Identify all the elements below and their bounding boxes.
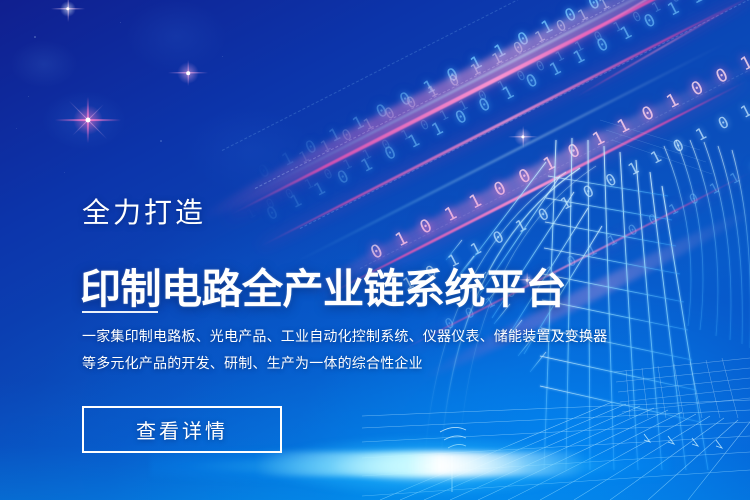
view-details-button[interactable]: 查看详情 <box>82 406 282 453</box>
hero-content: 全力打造 印制电路全产业链系统平台 一家集印制电路板、光电产品、工业自动化控制系… <box>0 0 750 500</box>
hero-banner: 1 0 1 0 1 1 0 0 1 0 1 1 0 1 0 0 1 0 1 1 … <box>0 0 750 500</box>
title-divider <box>82 311 158 313</box>
hero-description: 一家集印制电路板、光电产品、工业自动化控制系统、仪器仪表、储能装置及变换器 等多… <box>82 323 602 377</box>
hero-description-line-1: 一家集印制电路板、光电产品、工业自动化控制系统、仪器仪表、储能装置及变换器 <box>82 323 602 350</box>
page-title: 印制电路全产业链系统平台 <box>80 265 566 313</box>
hero-eyebrow: 全力打造 <box>82 197 206 229</box>
hero-description-line-2: 等多元化产品的开发、研制、生产为一体的综合性企业 <box>82 350 602 377</box>
